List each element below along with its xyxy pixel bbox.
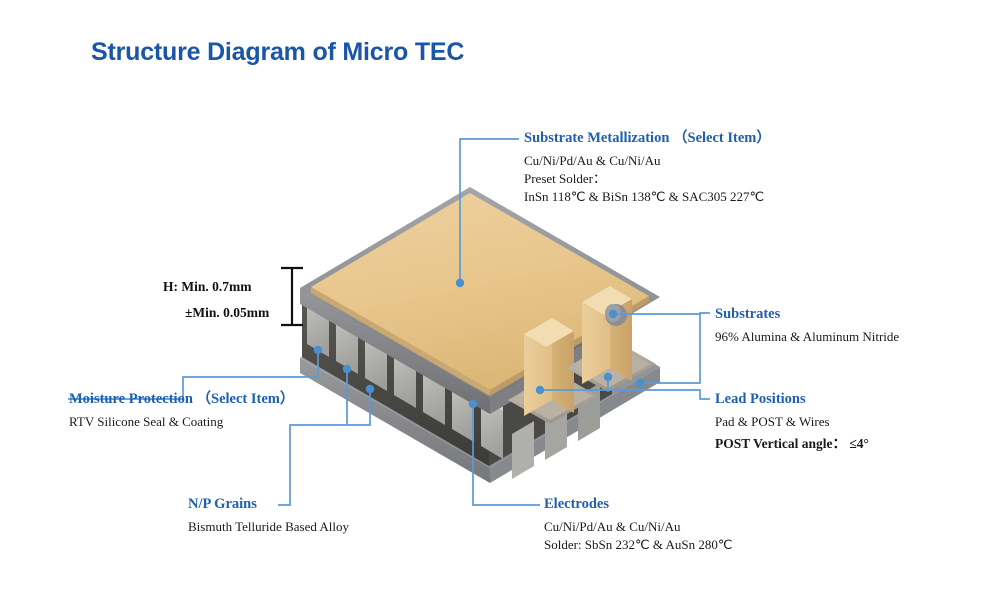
heading-select-item: （Select Item） — [673, 130, 771, 146]
body-line: Solder: SbSn 232℃ & AuSn 280℃ — [544, 536, 732, 554]
heading-text: Substrate Metallization — [524, 130, 669, 146]
callout-lead-positions-body: Pad & POST & Wires POST Vertical angle： … — [715, 413, 869, 454]
body-line: Preset Solder： — [524, 170, 771, 188]
callout-moisture-protection-body: RTV Silicone Seal & Coating — [69, 413, 294, 431]
body-line: Cu/Ni/Pd/Au & Cu/Ni/Au — [544, 518, 732, 536]
callout-substrates-body: 96% Alumina & Aluminum Nitride — [715, 328, 899, 346]
height-dimension-bracket — [281, 268, 303, 325]
body-line: 96% Alumina & Aluminum Nitride — [715, 328, 899, 346]
callout-moisture-protection-heading: Moisture Protection （Select Item） — [69, 391, 294, 408]
body-line: Bismuth Telluride Based Alloy — [188, 518, 349, 536]
callout-substrate-metallization-heading: Substrate Metallization （Select Item） — [524, 130, 771, 147]
callout-np-grains-body: Bismuth Telluride Based Alloy — [188, 518, 349, 536]
body-line: Pad & POST & Wires — [715, 413, 869, 431]
callout-np-grains: N/P Grains Bismuth Telluride Based Alloy — [188, 496, 349, 536]
callout-lead-positions: Lead Positions Pad & POST & Wires POST V… — [715, 391, 869, 453]
leader-substrates-top — [613, 313, 710, 314]
callout-lead-positions-heading: Lead Positions — [715, 391, 869, 408]
body-line: InSn 118℃ & BiSn 138℃ & SAC305 227℃ — [524, 188, 771, 206]
callout-electrodes-body: Cu/Ni/Pd/Au & Cu/Ni/Au Solder: SbSn 232℃… — [544, 518, 732, 554]
callout-substrate-metallization: Substrate Metallization （Select Item） Cu… — [524, 130, 771, 205]
heading-text: Moisture Protection — [69, 391, 193, 407]
heading-select-item: （Select Item） — [197, 391, 295, 407]
body-line-bold: POST Vertical angle： ≤4° — [715, 435, 869, 454]
callout-substrates: Substrates 96% Alumina & Aluminum Nitrid… — [715, 306, 899, 346]
height-dimension-label: H: Min. 0.7mm ±Min. 0.05mm — [163, 274, 269, 325]
callout-moisture-protection: Moisture Protection （Select Item） RTV Si… — [69, 391, 294, 431]
device-and-leaders-svg — [0, 0, 981, 601]
callout-electrodes-heading: Electrodes — [544, 496, 732, 513]
height-dimension-line2: ±Min. 0.05mm — [163, 300, 269, 326]
callout-np-grains-heading: N/P Grains — [188, 496, 349, 513]
body-line: Cu/Ni/Pd/Au & Cu/Ni/Au — [524, 152, 771, 170]
body-line: RTV Silicone Seal & Coating — [69, 413, 294, 431]
post-pillar-back — [582, 286, 632, 384]
diagram-canvas: Structure Diagram of Micro TEC — [0, 0, 981, 601]
post-pillar-front — [524, 318, 574, 416]
height-dimension-line1: H: Min. 0.7mm — [163, 279, 252, 294]
callout-substrate-metallization-body: Cu/Ni/Pd/Au & Cu/Ni/Au Preset Solder： In… — [524, 152, 771, 206]
callout-electrodes: Electrodes Cu/Ni/Pd/Au & Cu/Ni/Au Solder… — [544, 496, 732, 554]
callout-substrates-heading: Substrates — [715, 306, 899, 323]
